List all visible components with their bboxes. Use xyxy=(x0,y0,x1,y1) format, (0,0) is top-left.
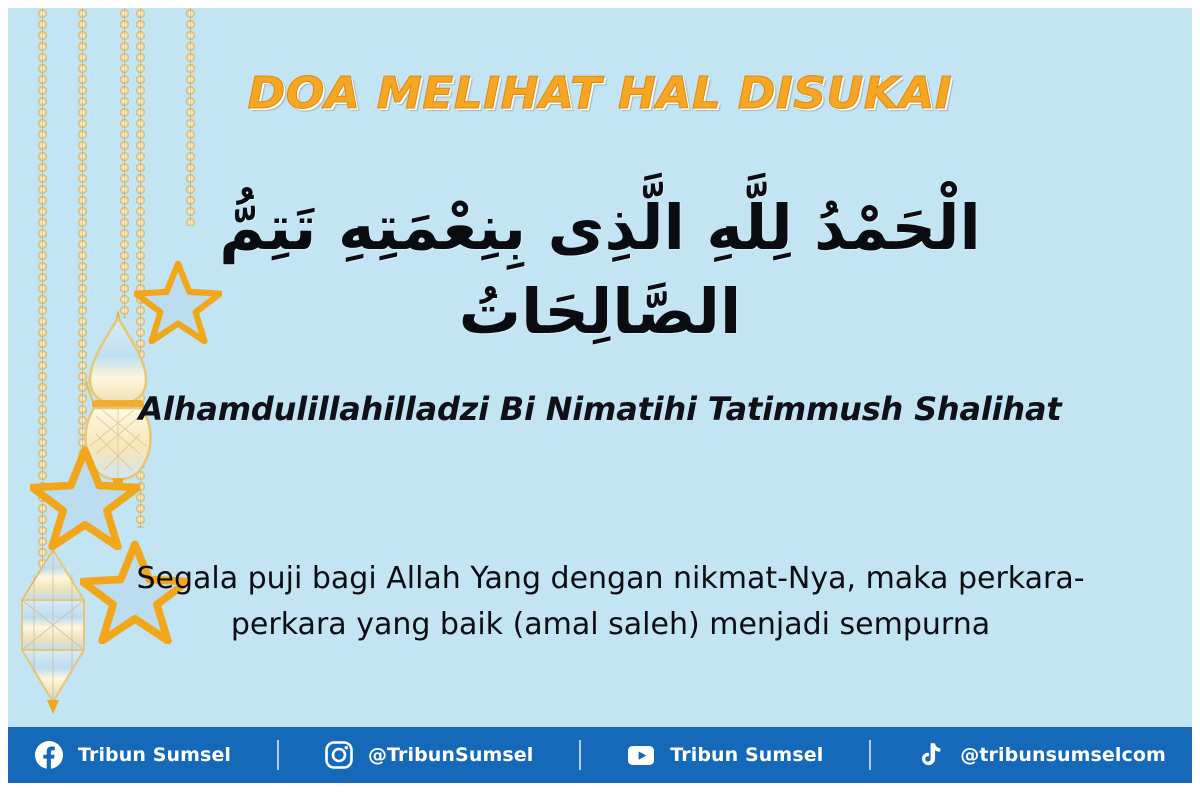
page-title: DOA MELIHAT HAL DISUKAI xyxy=(8,68,1192,119)
translation-text: Segala puji bagi Allah Yang dengan nikma… xyxy=(123,556,1098,647)
social-item-instagram[interactable]: @TribunSumsel xyxy=(324,740,533,770)
footer-divider xyxy=(277,740,279,770)
poster: DOA MELIHAT HAL DISUKAI الْحَمْدُ لِلَّه… xyxy=(0,0,1200,800)
social-item-tiktok[interactable]: @tribunsumselcom xyxy=(916,740,1166,770)
social-footer-bar: Tribun Sumsel @TribunSumsel Tribun xyxy=(8,727,1192,783)
social-label-youtube: Tribun Sumsel xyxy=(670,744,823,766)
facebook-icon xyxy=(34,740,64,770)
social-label-tiktok: @tribunsumselcom xyxy=(960,744,1166,766)
instagram-icon xyxy=(324,740,354,770)
decorative-star xyxy=(30,446,140,550)
arabic-dua-text: الْحَمْدُ لِلَّهِ الَّذِى بِنِعْمَتِهِ ت… xyxy=(8,186,1192,353)
social-item-youtube[interactable]: Tribun Sumsel xyxy=(626,740,823,770)
footer-divider xyxy=(579,740,581,770)
social-item-facebook[interactable]: Tribun Sumsel xyxy=(34,740,231,770)
social-label-instagram: @TribunSumsel xyxy=(368,744,533,766)
transliteration-text: Alhamdulillahilladzi Bi Nimatihi Tatimmu… xyxy=(8,390,1192,428)
tiktok-icon xyxy=(916,740,946,770)
poster-canvas: DOA MELIHAT HAL DISUKAI الْحَمْدُ لِلَّه… xyxy=(8,8,1192,783)
youtube-icon xyxy=(626,740,656,770)
footer-divider xyxy=(869,740,871,770)
social-label-facebook: Tribun Sumsel xyxy=(78,744,231,766)
